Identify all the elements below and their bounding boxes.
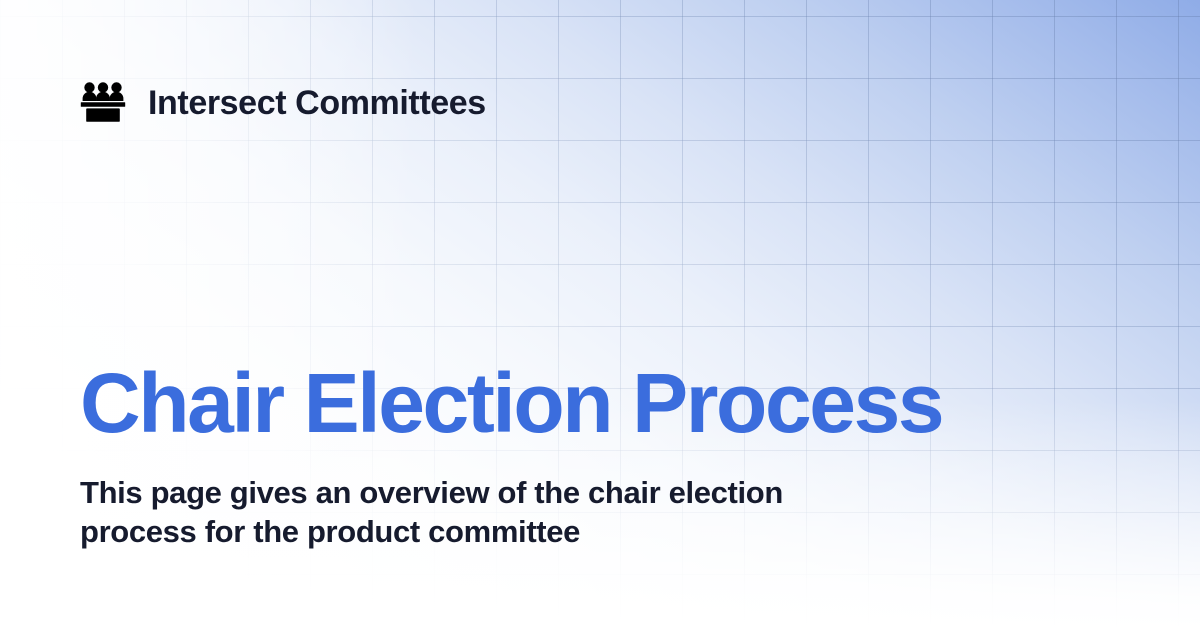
- page-subtitle: This page gives an overview of the chair…: [80, 473, 870, 552]
- hero-text-block: Chair Election Process This page gives a…: [80, 361, 1120, 552]
- committee-people-table-icon: [80, 80, 126, 126]
- brand: Intersect Committees: [80, 80, 486, 126]
- og-card: Intersect Committees Chair Election Proc…: [0, 0, 1200, 630]
- page-title: Chair Election Process: [80, 361, 1120, 447]
- brand-name: Intersect Committees: [148, 86, 486, 120]
- card-content: Intersect Committees Chair Election Proc…: [0, 0, 1200, 630]
